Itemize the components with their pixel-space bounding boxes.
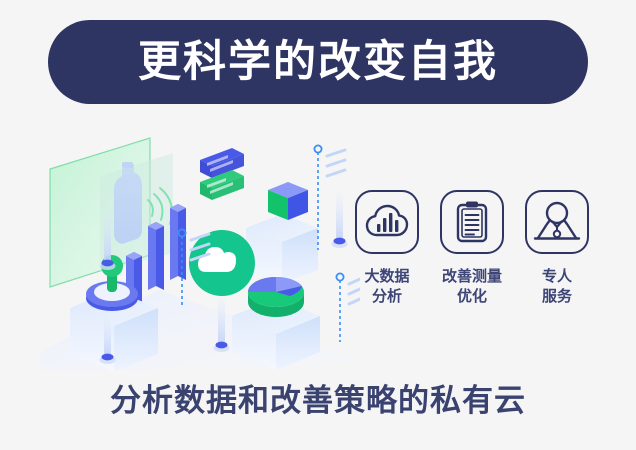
feature-label-measure-optimize: 改善测量 优化 [442,267,502,308]
footer-tagline: 分析数据和改善策略的私有云 [0,385,636,416]
title-banner: 更科学的改变自我 [48,20,588,104]
pie-chart-3d [248,277,304,317]
isometric-platform-block-cube [246,214,318,284]
cloud-circle-badge [189,230,255,296]
support-person-icon-box [525,190,589,254]
isometric-cube [268,182,308,220]
feature-item-dedicated-service[interactable]: 专人 服务 [522,190,592,340]
support-person-icon [533,200,581,244]
cloud-bar-chart-icon-box [355,190,419,254]
page-title: 更科学的改变自我 [138,41,498,84]
clipboard-icon-box [440,190,504,254]
cloud-bar-chart-icon [365,202,409,242]
promo-banner-page: 更科学的改变自我 [0,0,636,450]
feature-item-big-data-analysis[interactable]: 大数据 分析 [352,190,422,340]
clipboard-icon [454,200,490,244]
feature-label-big-data-analysis: 大数据 分析 [364,267,409,308]
illustration-isometric-cloud-scene [30,120,360,370]
feature-label-dedicated-service: 专人 服务 [542,267,572,308]
feature-list: 大数据 分析 改善测量 优化 [352,190,592,340]
feature-item-measure-optimize[interactable]: 改善测量 优化 [437,190,507,340]
